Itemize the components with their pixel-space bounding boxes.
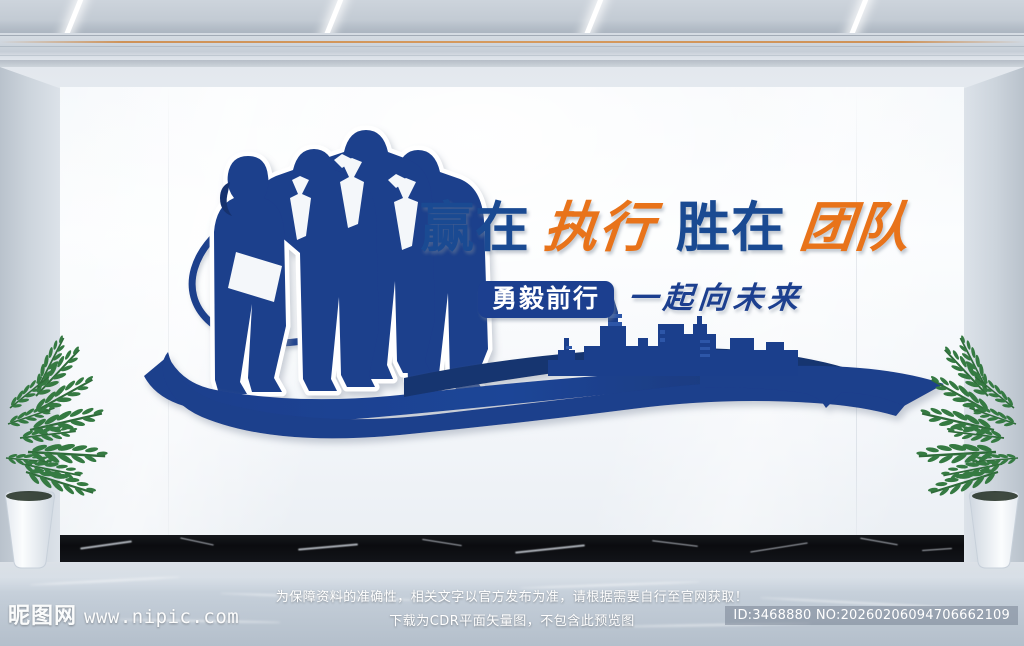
headline-part-1: 赢在 — [420, 201, 530, 255]
headline-part-4: 团队 — [797, 201, 913, 255]
pot-soil-right — [972, 491, 1018, 501]
marble-vein — [422, 539, 462, 546]
pot-soil-left — [6, 491, 52, 501]
marble-vein — [860, 538, 898, 546]
marble-vein — [80, 540, 132, 549]
wall-seam-right — [856, 87, 857, 579]
subline-script: 一起向未来 — [627, 284, 805, 314]
footer-watermark-bar: 昵图网 www.nipic.com 为保障资料的准确性，相关文字以官方发布为准，… — [0, 580, 1024, 646]
marble-vein — [180, 537, 213, 545]
marble-baseboard — [60, 535, 964, 562]
headline: 赢在 执行 胜在 团队 — [420, 196, 910, 260]
business-team-silhouette — [214, 130, 488, 395]
ceiling — [0, 0, 1024, 33]
screenshot-canvas: 赢在 执行 胜在 团队 勇毅前行 一起向未来 — [0, 0, 1024, 646]
asset-id-tag: ID:3468880 NO:20260206094706662109 — [725, 606, 1018, 625]
cornice-line-mid — [0, 46, 1024, 47]
marble-vein — [922, 548, 952, 551]
marble-vein — [298, 543, 358, 550]
room — [0, 67, 1024, 646]
marble-vein — [515, 544, 585, 553]
ceiling-gradient — [0, 0, 1024, 33]
cornice-line-top — [0, 35, 1024, 36]
subline: 勇毅前行 一起向未来 — [478, 281, 803, 317]
wall-feature-panel — [60, 87, 964, 579]
cornice-warm-accent — [0, 41, 1024, 43]
wall-seam-left — [168, 87, 169, 579]
marble-vein — [652, 540, 698, 547]
cornice-line-low — [0, 55, 1024, 56]
headline-part-2: 执行 — [541, 201, 657, 255]
headline-part-3: 胜在 — [676, 201, 786, 255]
marble-vein — [750, 542, 808, 552]
subline-badge: 勇毅前行 — [478, 281, 614, 318]
notice-line-1: 为保障资料的准确性，相关文字以官方发布为准，请根据需要自行至官网获取！ — [0, 586, 1024, 605]
